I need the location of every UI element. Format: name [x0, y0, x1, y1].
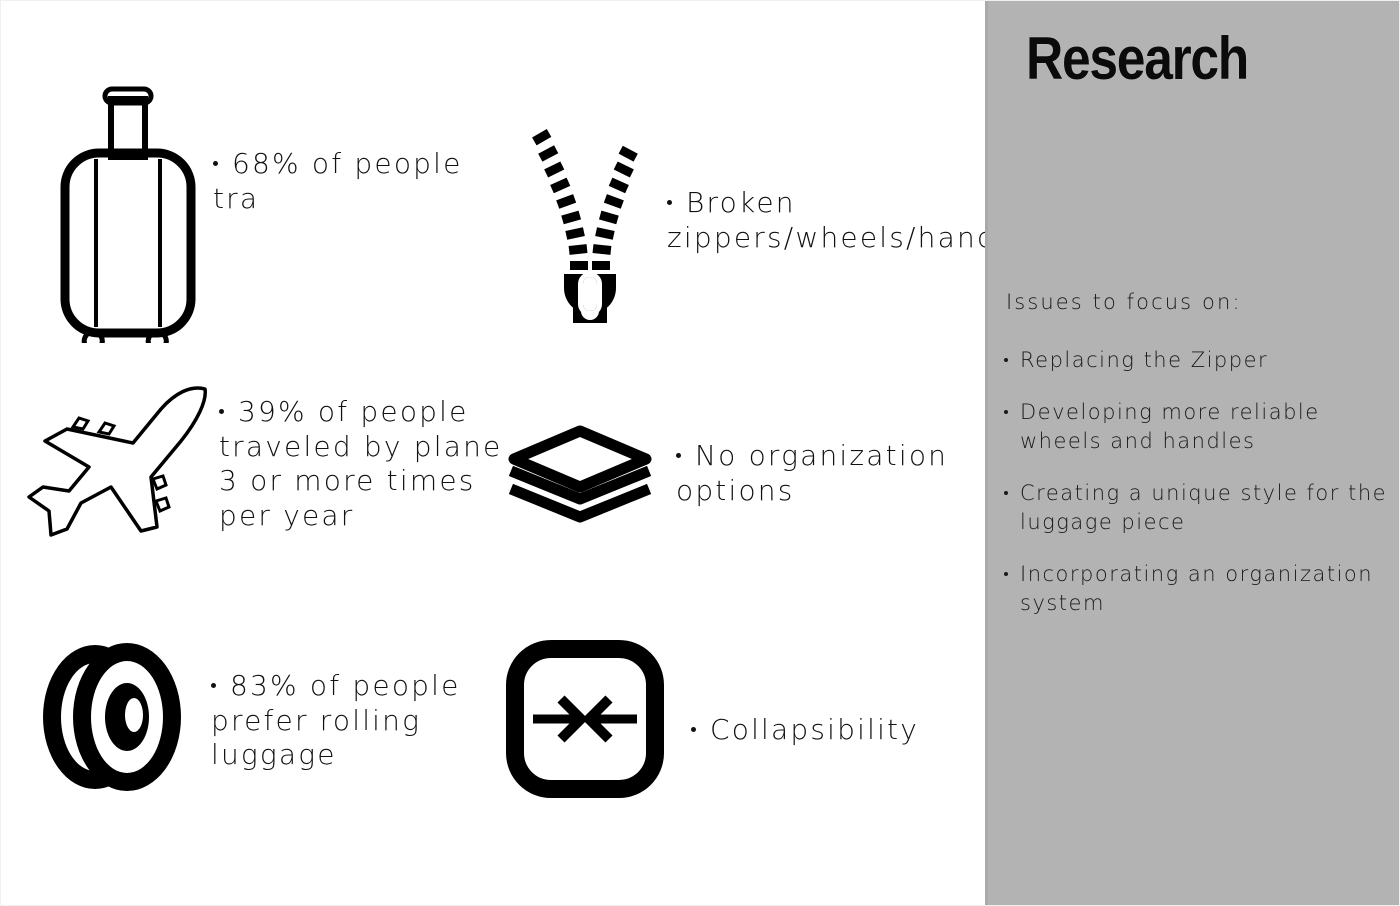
- research-item-suitcase: 68% of people tra: [53, 85, 493, 343]
- bullet-dot: [211, 683, 216, 688]
- research-item-text: 83% of people prefer rolling luggage: [211, 669, 501, 773]
- suitcase-icon: [53, 85, 203, 343]
- research-item-label: Collapsibility: [710, 713, 919, 746]
- research-item-zipper: Broken zippers/wheels/handles: [526, 111, 977, 326]
- sidebar-focus-list: Replacing the Zipper Developing more rel…: [996, 346, 1396, 641]
- research-item-layers: No organization options: [506, 425, 986, 527]
- research-item-text: 68% of people tra: [213, 147, 493, 216]
- research-item-text: Broken zippers/wheels/handles: [667, 186, 977, 255]
- bullet-dot: [667, 200, 672, 205]
- sidebar-list-item: Developing more reliable wheels and hand…: [996, 398, 1396, 456]
- page-title: Research: [1026, 29, 1248, 89]
- zipper-icon: [526, 111, 641, 326]
- research-item-text: 39% of people traveled by plane 3 or mor…: [219, 395, 519, 534]
- research-item-label: 39% of people traveled by plane 3 or mor…: [219, 395, 502, 532]
- research-item-wheel: 83% of people prefer rolling luggage: [33, 635, 501, 800]
- wheel-icon: [33, 635, 193, 800]
- bullet-dot: [676, 453, 681, 458]
- slide-canvas: 68% of people tra: [0, 0, 1400, 906]
- sidebar-list-item: Replacing the Zipper: [996, 346, 1396, 375]
- research-item-collapsibility: Collapsibility: [501, 635, 991, 803]
- research-item-label: No organization options: [676, 439, 948, 507]
- sidebar-list-item: Creating a unique style for the luggage …: [996, 479, 1396, 537]
- bullet-dot: [219, 409, 224, 414]
- bullet-dot: [213, 161, 218, 166]
- research-item-airplane: 39% of people traveled by plane 3 or mor…: [15, 383, 519, 543]
- research-item-text: No organization options: [676, 439, 986, 508]
- sidebar-list-item: Incorporating an organization system: [996, 560, 1396, 618]
- airplane-icon: [15, 383, 211, 543]
- bullet-dot: [691, 727, 696, 732]
- sidebar-intro-label: Issues to focus on:: [1006, 289, 1396, 316]
- main-content: 68% of people tra: [1, 1, 985, 906]
- research-item-label: 68% of people tra: [213, 147, 463, 215]
- research-item-label: 83% of people prefer rolling luggage: [211, 669, 461, 771]
- sidebar: Research Issues to focus on: Replacing t…: [985, 1, 1400, 906]
- research-item-text: Collapsibility: [691, 713, 991, 748]
- collapse-arrows-icon: [501, 635, 669, 803]
- layers-icon: [506, 425, 654, 527]
